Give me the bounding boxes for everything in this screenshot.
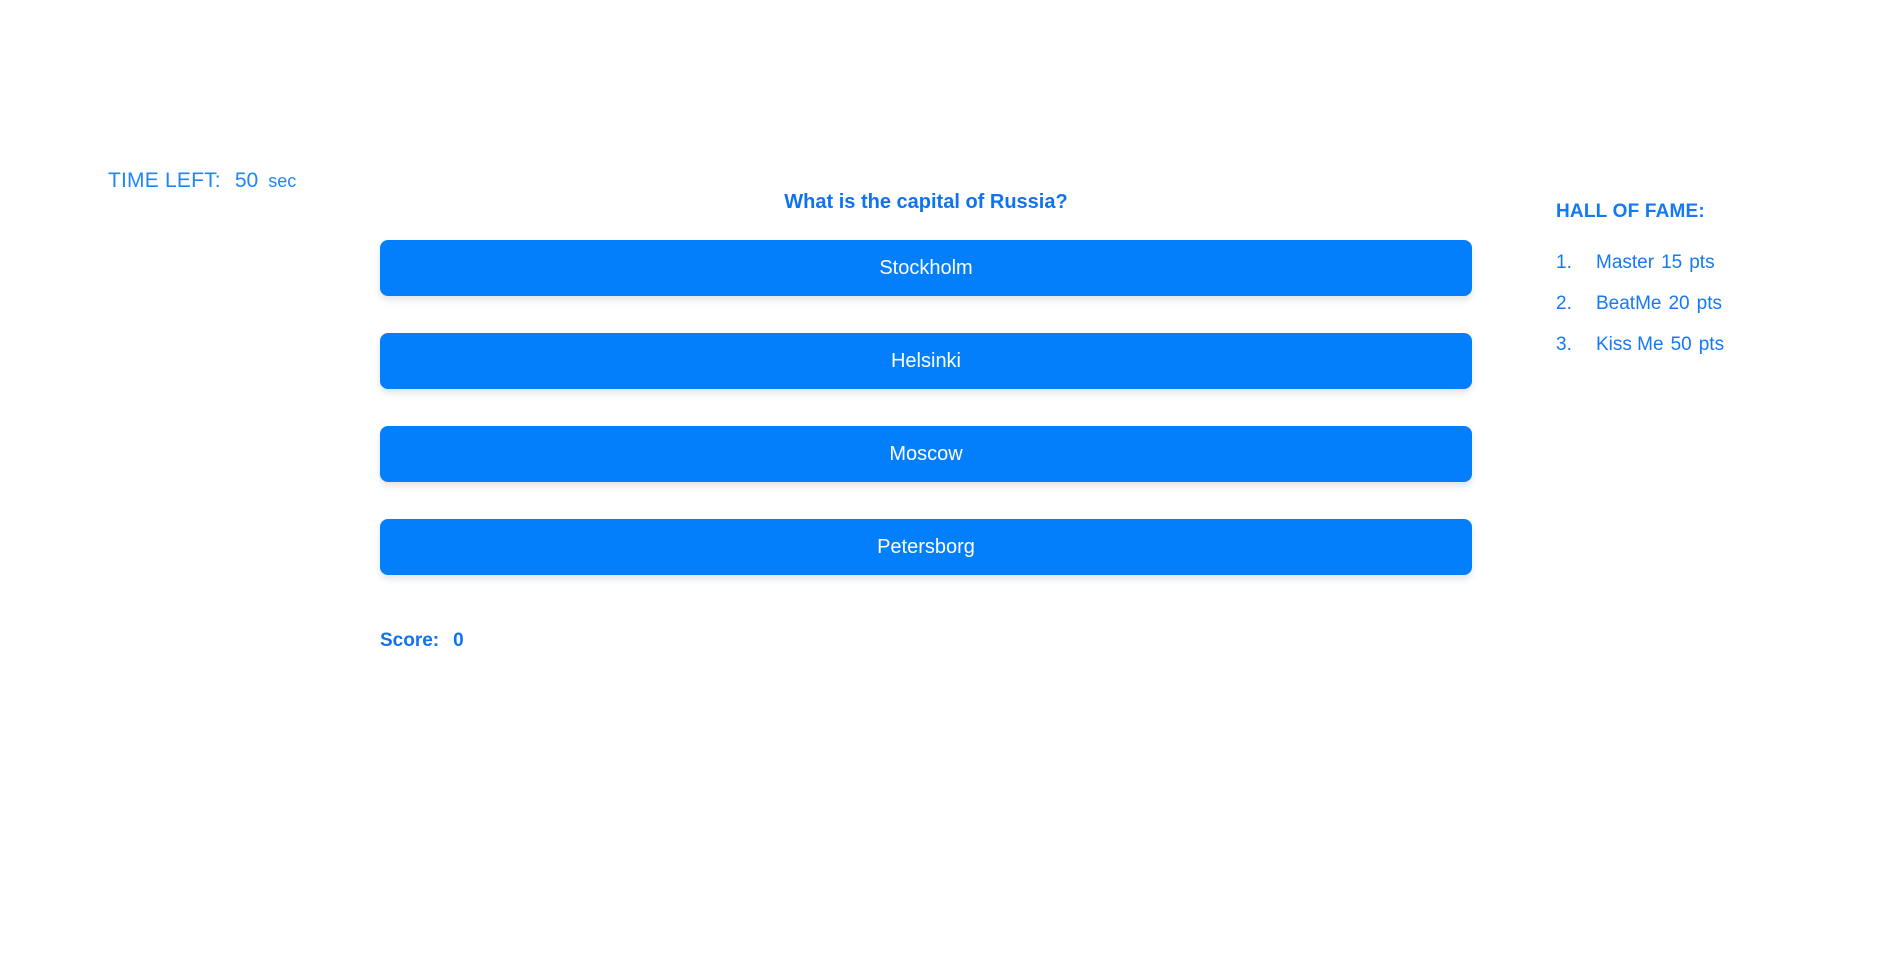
score-display: Score:0 — [380, 631, 1472, 650]
hall-of-fame-name: Kiss Me — [1596, 335, 1664, 354]
hall-of-fame-rank: 3. — [1556, 335, 1596, 354]
score-value: 0 — [453, 630, 464, 651]
time-left-unit: sec — [268, 171, 296, 191]
list-item: 3. Kiss Me 50 pts — [1556, 335, 1856, 354]
answer-options-list: Stockholm Helsinki Moscow Petersborg — [380, 240, 1472, 575]
answer-button-3[interactable]: Moscow — [380, 426, 1472, 482]
hall-of-fame-list: 1. Master 15 pts 2. BeatMe 20 pts 3. Kis… — [1556, 253, 1856, 354]
hall-of-fame-rank: 2. — [1556, 294, 1596, 313]
hall-of-fame-panel: HALL OF FAME: 1. Master 15 pts 2. BeatMe… — [1556, 202, 1856, 376]
hall-of-fame-score: 15 — [1661, 253, 1682, 272]
hall-of-fame-rank: 1. — [1556, 253, 1596, 272]
time-left-label: TIME LEFT: — [108, 169, 221, 192]
time-left-display: TIME LEFT:50sec — [108, 170, 296, 191]
hall-of-fame-name: Master — [1596, 253, 1654, 272]
hall-of-fame-title: HALL OF FAME: — [1556, 202, 1856, 221]
question-text: What is the capital of Russia? — [380, 192, 1472, 212]
answer-button-4[interactable]: Petersborg — [380, 519, 1472, 575]
list-item: 2. BeatMe 20 pts — [1556, 294, 1856, 313]
answer-button-2[interactable]: Helsinki — [380, 333, 1472, 389]
answer-button-1[interactable]: Stockholm — [380, 240, 1472, 296]
hall-of-fame-unit: pts — [1699, 335, 1724, 354]
hall-of-fame-score: 20 — [1668, 294, 1689, 313]
hall-of-fame-score: 50 — [1671, 335, 1692, 354]
quiz-panel: What is the capital of Russia? Stockholm… — [380, 192, 1472, 650]
hall-of-fame-unit: pts — [1689, 253, 1714, 272]
hall-of-fame-name: BeatMe — [1596, 294, 1661, 313]
time-left-value: 50 — [235, 169, 258, 192]
hall-of-fame-unit: pts — [1697, 294, 1722, 313]
list-item: 1. Master 15 pts — [1556, 253, 1856, 272]
score-label: Score: — [380, 630, 439, 651]
